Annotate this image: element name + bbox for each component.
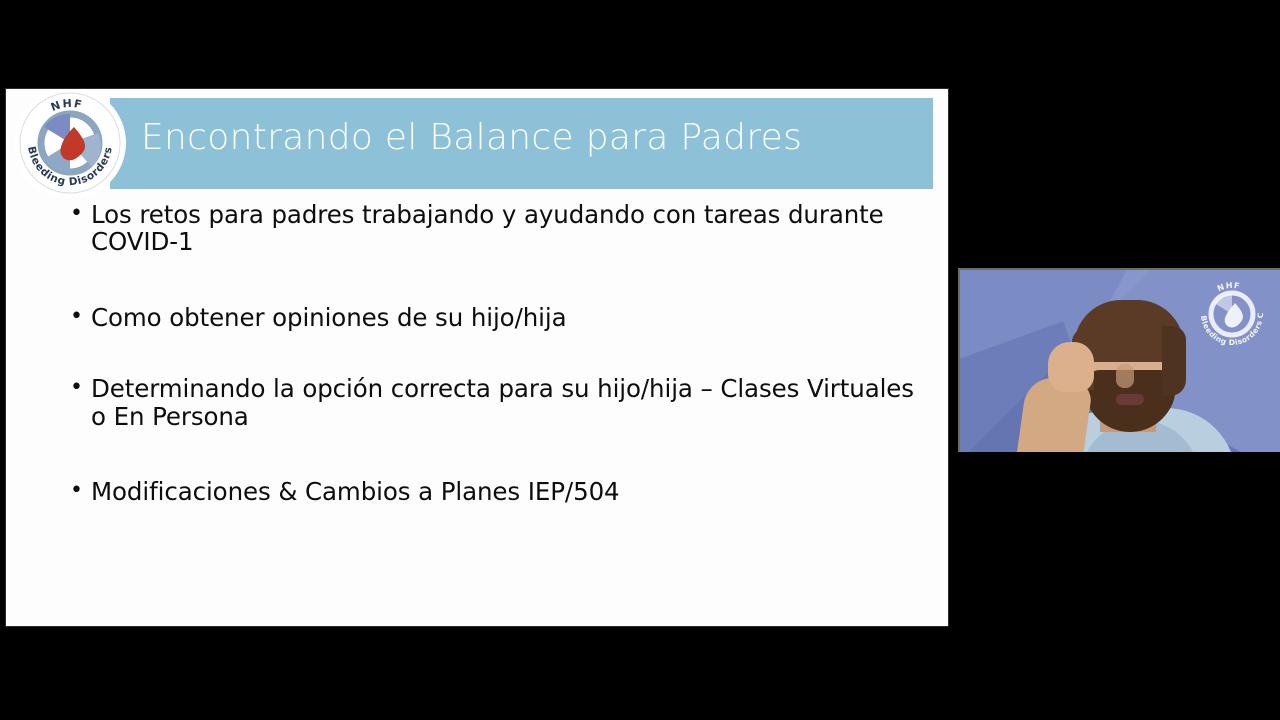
bullet-text-2: Como obtener opiniones de su hijo/hija [91, 303, 566, 332]
slide-bullet-list: • Los retos para padres trabajando y ayu… [66, 201, 928, 506]
bullet-item-3: • Determinando la opción correcta para s… [66, 375, 928, 430]
bullet-item-1: • Los retos para padres trabajando y ayu… [66, 201, 928, 256]
presentation-slide: Encontrando el Balance para Padres [5, 88, 949, 627]
speaker-webcam-tile[interactable]: NHF Bleeding Disorders Conference [958, 268, 1280, 452]
speaker-hand [1048, 342, 1094, 392]
bullet-marker-icon: • [70, 478, 83, 505]
bullet-marker-icon: • [70, 201, 83, 228]
screen-canvas: Encontrando el Balance para Padres [0, 0, 1280, 720]
nhf-logo-graphic: NHF Bleeding Disorders Conference [14, 88, 126, 199]
bullet-marker-icon: • [70, 304, 83, 331]
bullet-item-4: • Modificaciones & Cambios a Planes IEP/… [66, 478, 928, 505]
nhf-logo: NHF Bleeding Disorders Conference [14, 88, 126, 199]
nhf-logo-watermark: NHF Bleeding Disorders Conference [1192, 274, 1274, 352]
speaker-mouth [1116, 394, 1144, 405]
slide-title: Encontrando el Balance para Padres [141, 117, 931, 158]
speaker-hair-right [1162, 326, 1186, 396]
speaker-nose [1116, 364, 1134, 388]
bullet-text-1: Los retos para padres trabajando y ayuda… [91, 200, 884, 256]
bullet-text-3: Determinando la opción correcta para su … [91, 374, 914, 430]
bullet-text-4: Modificaciones & Cambios a Planes IEP/50… [91, 477, 620, 506]
bullet-marker-icon: • [70, 375, 83, 402]
bullet-item-2: • Como obtener opiniones de su hijo/hija [66, 304, 928, 331]
